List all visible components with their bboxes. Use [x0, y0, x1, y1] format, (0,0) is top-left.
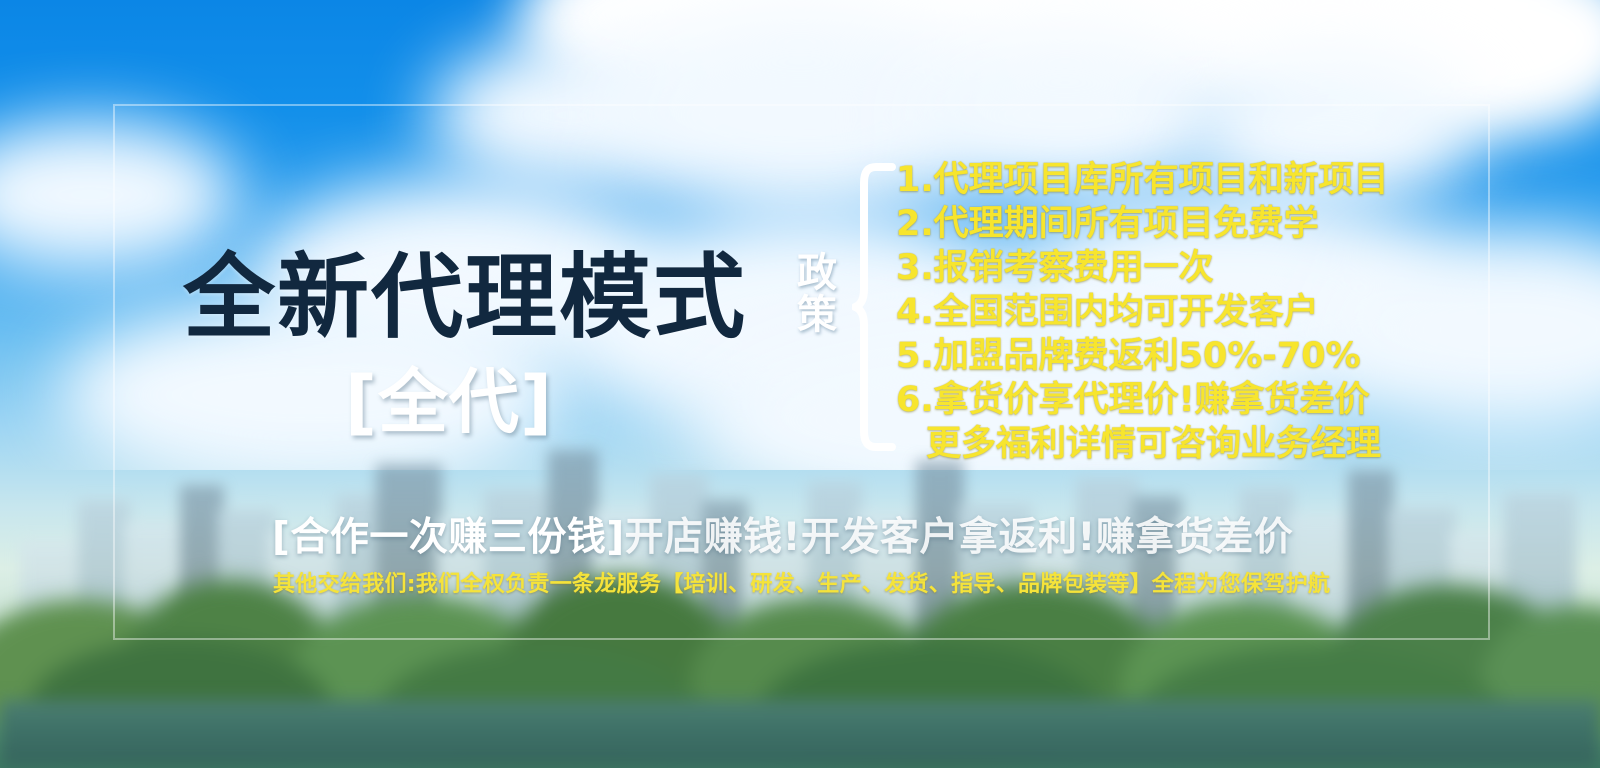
policy-list: 1.代理项目库所有项目和新项目 2.代理期间所有项目免费学 3.报销考察费用一次…: [896, 158, 1389, 466]
policy-note: 更多福利详情可咨询业务经理: [896, 422, 1389, 466]
policy-item: 3.报销考察费用一次: [896, 246, 1389, 290]
curly-brace-icon: [852, 163, 896, 451]
policy-item: 5.加盟品牌费返利50%-70%: [896, 334, 1389, 378]
tagline: [合作一次赚三份钱]开店赚钱!开发客户拿返利!赚拿货差价: [272, 518, 1293, 557]
policy-item: 2.代理期间所有项目免费学: [896, 202, 1389, 246]
page-title: 全新代理模式: [183, 252, 747, 344]
policy-label-char-1: 政: [793, 252, 841, 294]
policy-label: 政 策: [793, 252, 841, 337]
promo-banner: 全新代理模式 [全代] 政 策 1.代理项目库所有项目和新项目 2.代理期间所有…: [0, 0, 1600, 768]
tagline-bracket: [合作一次赚三份钱]: [272, 515, 625, 560]
policy-item: 4.全国范围内均可开发客户: [896, 290, 1389, 334]
policy-item: 1.代理项目库所有项目和新项目: [896, 158, 1389, 202]
policy-item: 6.拿货价享代理价!赚拿货差价: [896, 378, 1389, 422]
policy-items: 1.代理项目库所有项目和新项目 2.代理期间所有项目免费学 3.报销考察费用一次…: [896, 158, 1389, 466]
subtitle: [全代]: [345, 367, 553, 437]
water-layer: [0, 700, 1600, 768]
policy-label-char-2: 策: [793, 294, 841, 336]
subtagline: 其他交给我们:我们全权负责一条龙服务【培训、研发、生产、发货、指导、品牌包装等】…: [273, 574, 1330, 596]
tagline-rest: 开店赚钱!开发客户拿返利!赚拿货差价: [625, 515, 1294, 560]
